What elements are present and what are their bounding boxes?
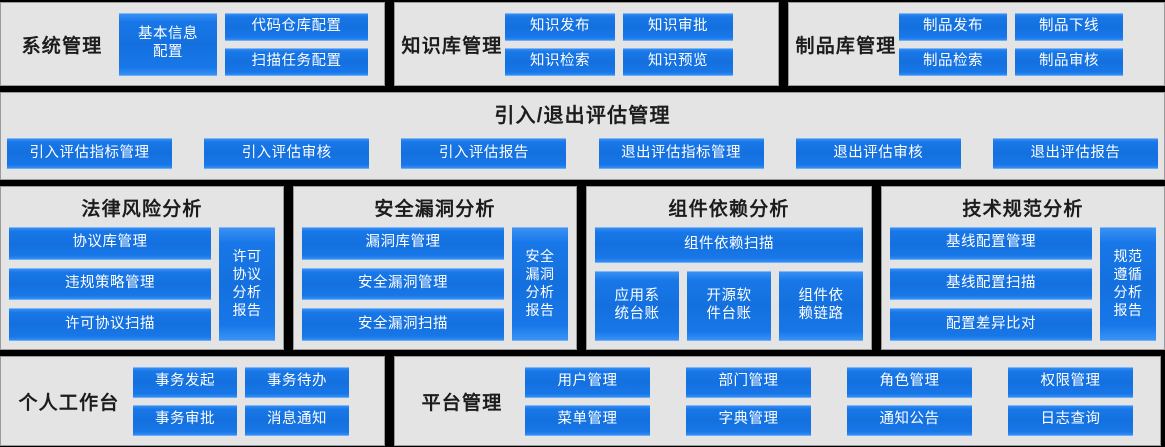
system-management-button-column: 代码仓库配置 扫描任务配置 xyxy=(225,13,368,76)
panel-title-platform-management: 平台管理 xyxy=(395,388,525,415)
button-application-system-ledger[interactable]: 应用系 统台账 xyxy=(595,271,679,341)
security-vulnerability-body: 漏洞库管理 安全漏洞管理 安全漏洞扫描 安全 漏洞 分析 报告 xyxy=(294,227,576,349)
button-task-todo[interactable]: 事务待办 xyxy=(245,367,349,398)
component-dependency-body: 组件依赖扫描 应用系 统台账 开源软 件台账 组件依 赖链路 xyxy=(587,227,871,349)
button-intro-assessment-report[interactable]: 引入评估报告 xyxy=(401,138,566,169)
knowledge-base-column-left: 知识发布 知识检索 xyxy=(505,13,615,76)
technical-specification-body: 基线配置管理 基线配置扫描 配置差异比对 规范 遵循 分析 报告 xyxy=(882,227,1164,349)
panel-title-component-dependency: 组件依赖分析 xyxy=(587,187,871,227)
button-user-management[interactable]: 用户管理 xyxy=(525,367,650,398)
product-repository-button-grid: 制品发布 制品检索 制品下线 制品审核 xyxy=(899,13,1132,76)
button-product-audit[interactable]: 制品审核 xyxy=(1015,48,1123,76)
platform-column-3: 角色管理 通知公告 xyxy=(847,367,972,436)
panel-introduction-exit-assessment: 引入/退出评估管理 引入评估指标管理 引入评估审核 引入评估报告 退出评估指标管… xyxy=(0,92,1165,180)
button-security-vulnerability-report[interactable]: 安全 漏洞 分析 报告 xyxy=(512,227,568,341)
button-knowledge-approval[interactable]: 知识审批 xyxy=(623,13,733,41)
button-task-approval[interactable]: 事务审批 xyxy=(133,405,237,436)
button-message-notification[interactable]: 消息通知 xyxy=(245,405,349,436)
platform-column-2: 部门管理 字典管理 xyxy=(686,367,811,436)
button-config-difference-comparison[interactable]: 配置差异比对 xyxy=(890,308,1092,341)
button-product-search[interactable]: 制品检索 xyxy=(899,48,1007,76)
button-scan-task-config[interactable]: 扫描任务配置 xyxy=(225,48,368,76)
button-department-management[interactable]: 部门管理 xyxy=(686,367,811,398)
button-notification-announcement[interactable]: 通知公告 xyxy=(847,405,972,436)
system-management-button-grid: 基本信息 配置 代码仓库配置 扫描任务配置 xyxy=(119,13,377,76)
button-security-vulnerability-management[interactable]: 安全漏洞管理 xyxy=(302,268,504,301)
platform-column-1: 用户管理 菜单管理 xyxy=(525,367,650,436)
button-dictionary-management[interactable]: 字典管理 xyxy=(686,405,811,436)
platform-management-button-grid: 用户管理 菜单管理 部门管理 字典管理 角色管理 通知公告 权限管理 日志查询 xyxy=(525,367,1133,436)
button-vulnerability-library-management[interactable]: 漏洞库管理 xyxy=(302,227,504,260)
row-top-modules: 系统管理 基本信息 配置 代码仓库配置 扫描任务配置 知识库管理 知识发布 知识… xyxy=(0,2,1165,86)
panel-title-assessment: 引入/退出评估管理 xyxy=(1,93,1164,133)
button-intro-assessment-review[interactable]: 引入评估审核 xyxy=(204,138,369,169)
panel-product-repository-management: 制品库管理 制品发布 制品检索 制品下线 制品审核 xyxy=(788,2,1165,86)
panel-personal-workbench: 个人工作台 事务发起 事务审批 事务待办 消息通知 xyxy=(0,356,385,446)
panel-legal-risk-analysis: 法律风险分析 协议库管理 违规策略管理 许可协议扫描 许可 协议 分析 报告 xyxy=(0,186,284,350)
button-baseline-config-scan[interactable]: 基线配置扫描 xyxy=(890,268,1092,301)
button-product-publish[interactable]: 制品发布 xyxy=(899,13,1007,41)
technical-specification-button-column: 基线配置管理 基线配置扫描 配置差异比对 xyxy=(890,227,1092,341)
panel-platform-management: 平台管理 用户管理 菜单管理 部门管理 字典管理 角色管理 通知公告 权限管理 … xyxy=(394,356,1161,446)
button-license-library-management[interactable]: 协议库管理 xyxy=(9,227,211,260)
knowledge-base-button-grid: 知识发布 知识检索 知识审批 知识预览 xyxy=(505,13,742,76)
button-exit-assessment-report[interactable]: 退出评估报告 xyxy=(993,138,1158,169)
application-root: 系统管理 基本信息 配置 代码仓库配置 扫描任务配置 知识库管理 知识发布 知识… xyxy=(0,0,1165,447)
legal-risk-button-column: 协议库管理 违规策略管理 许可协议扫描 xyxy=(9,227,211,341)
button-task-initiate[interactable]: 事务发起 xyxy=(133,367,237,398)
panel-title-security-vulnerability: 安全漏洞分析 xyxy=(294,187,576,227)
button-knowledge-search[interactable]: 知识检索 xyxy=(505,48,615,76)
button-code-repo-config[interactable]: 代码仓库配置 xyxy=(225,13,368,41)
button-open-source-software-ledger[interactable]: 开源软 件台账 xyxy=(687,271,771,341)
button-exit-assessment-metrics[interactable]: 退出评估指标管理 xyxy=(599,138,764,169)
row-bottom-modules: 个人工作台 事务发起 事务审批 事务待办 消息通知 平台管理 用户管理 菜单管理 xyxy=(0,356,1165,446)
row-assessment: 引入/退出评估管理 引入评估指标管理 引入评估审核 引入评估报告 退出评估指标管… xyxy=(0,92,1165,180)
button-security-vulnerability-scan[interactable]: 安全漏洞扫描 xyxy=(302,308,504,341)
button-baseline-config-management[interactable]: 基线配置管理 xyxy=(890,227,1092,260)
panel-technical-specification-analysis: 技术规范分析 基线配置管理 基线配置扫描 配置差异比对 规范 遵循 分析 报告 xyxy=(881,186,1165,350)
button-product-offline[interactable]: 制品下线 xyxy=(1015,13,1123,41)
panel-title-system-management: 系统管理 xyxy=(1,31,119,58)
panel-title-technical-specification: 技术规范分析 xyxy=(882,187,1164,227)
button-component-dependency-chain[interactable]: 组件依 赖链路 xyxy=(779,271,863,341)
button-knowledge-publish[interactable]: 知识发布 xyxy=(505,13,615,41)
personal-workbench-column-left: 事务发起 事务审批 xyxy=(133,367,237,436)
button-violation-policy-management[interactable]: 违规策略管理 xyxy=(9,268,211,301)
panel-security-vulnerability-analysis: 安全漏洞分析 漏洞库管理 安全漏洞管理 安全漏洞扫描 安全 漏洞 分析 报告 xyxy=(293,186,577,350)
button-component-dependency-scan[interactable]: 组件依赖扫描 xyxy=(595,227,863,263)
security-vulnerability-button-column: 漏洞库管理 安全漏洞管理 安全漏洞扫描 xyxy=(302,227,504,341)
panel-knowledge-base-management: 知识库管理 知识发布 知识检索 知识审批 知识预览 xyxy=(394,2,779,86)
panel-system-management: 系统管理 基本信息 配置 代码仓库配置 扫描任务配置 xyxy=(0,2,385,86)
panel-title-product-repository: 制品库管理 xyxy=(789,31,899,58)
button-specification-compliance-report[interactable]: 规范 遵循 分析 报告 xyxy=(1100,227,1156,341)
legal-risk-body: 协议库管理 违规策略管理 许可协议扫描 许可 协议 分析 报告 xyxy=(1,227,283,349)
button-license-analysis-report[interactable]: 许可 协议 分析 报告 xyxy=(219,227,275,341)
button-menu-management[interactable]: 菜单管理 xyxy=(525,405,650,436)
button-role-management[interactable]: 角色管理 xyxy=(847,367,972,398)
button-knowledge-preview[interactable]: 知识预览 xyxy=(623,48,733,76)
product-repository-column-right: 制品下线 制品审核 xyxy=(1015,13,1123,76)
product-repository-column-left: 制品发布 制品检索 xyxy=(899,13,1007,76)
button-intro-assessment-metrics[interactable]: 引入评估指标管理 xyxy=(7,138,172,169)
panel-component-dependency-analysis: 组件依赖分析 组件依赖扫描 应用系 统台账 开源软 件台账 组件依 赖链路 xyxy=(586,186,872,350)
row-analysis-modules: 法律风险分析 协议库管理 违规策略管理 许可协议扫描 许可 协议 分析 报告 安… xyxy=(0,186,1165,350)
button-log-query[interactable]: 日志查询 xyxy=(1008,405,1133,436)
button-exit-assessment-review[interactable]: 退出评估审核 xyxy=(796,138,961,169)
button-basic-info-config[interactable]: 基本信息 配置 xyxy=(119,13,217,76)
assessment-button-row: 引入评估指标管理 引入评估审核 引入评估报告 退出评估指标管理 退出评估审核 退… xyxy=(1,133,1164,179)
panel-title-personal-workbench: 个人工作台 xyxy=(1,388,133,415)
button-permission-management[interactable]: 权限管理 xyxy=(1008,367,1133,398)
personal-workbench-button-grid: 事务发起 事务审批 事务待办 消息通知 xyxy=(133,367,349,436)
personal-workbench-column-right: 事务待办 消息通知 xyxy=(245,367,349,436)
panel-title-knowledge-base: 知识库管理 xyxy=(395,31,505,58)
button-license-agreement-scan[interactable]: 许可协议扫描 xyxy=(9,308,211,341)
component-dependency-button-row: 应用系 统台账 开源软 件台账 组件依 赖链路 xyxy=(595,271,863,341)
platform-column-4: 权限管理 日志查询 xyxy=(1008,367,1133,436)
knowledge-base-column-right: 知识审批 知识预览 xyxy=(623,13,733,76)
panel-title-legal-risk: 法律风险分析 xyxy=(1,187,283,227)
